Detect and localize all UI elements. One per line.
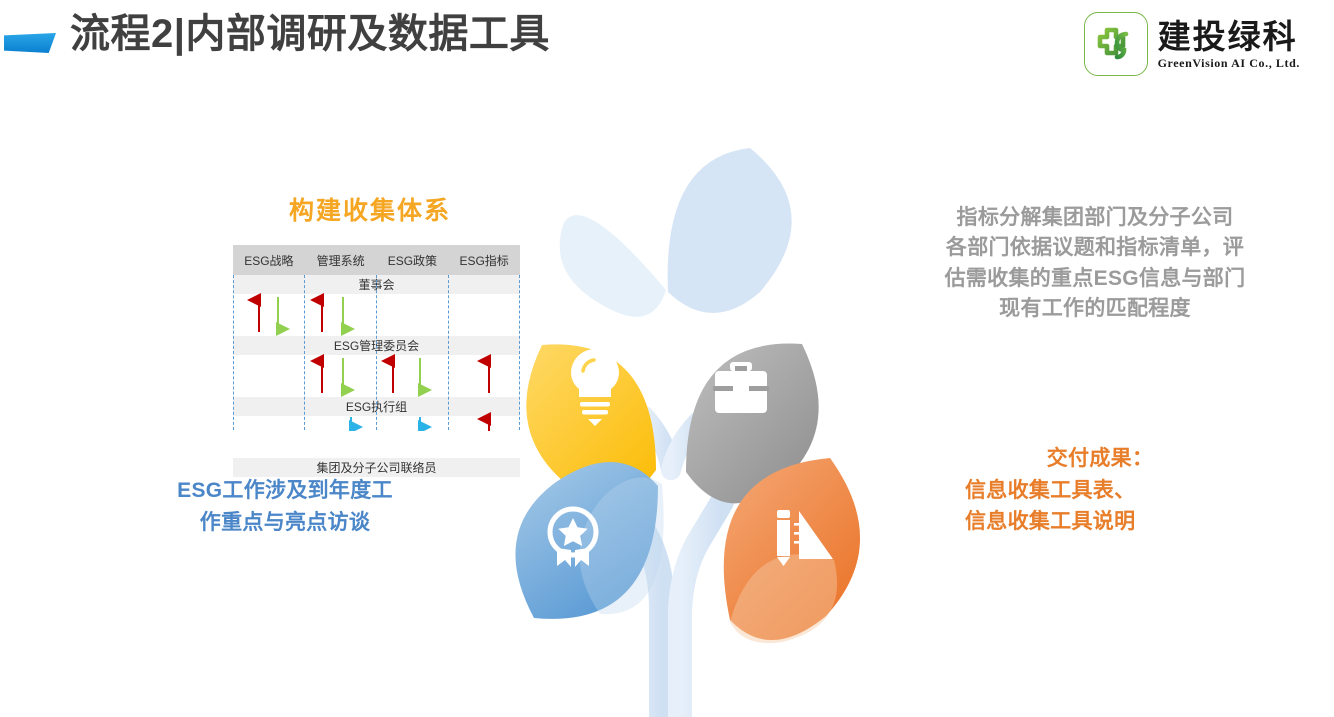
level-label: ESG管理委员会 [233, 336, 520, 355]
note-line: 信息收集工具说明 [955, 506, 1245, 538]
level-label: ESG执行组 [233, 397, 520, 416]
table-row: ESG管理委员会 [233, 336, 520, 355]
note-line: 估需收集的重点ESG信息与部门 [880, 264, 1310, 294]
arrow-row-2 [233, 355, 520, 397]
table-row [233, 294, 520, 336]
level-label: 董事会 [233, 275, 520, 294]
header-accent-shape [4, 33, 56, 53]
note-line: 现有工作的匹配程度 [880, 294, 1310, 324]
logo-name-en: GreenVision AI Co., Ltd. [1158, 57, 1300, 69]
table-header-row: ESG战略 管理系统 ESG政策 ESG指标 [233, 245, 520, 275]
note-line: 作重点与亮点访谈 [135, 507, 435, 539]
table-row [233, 416, 520, 458]
table-row: 董事会 [233, 275, 520, 294]
leaf-icon-sprout-left [560, 215, 666, 317]
table-col-header: ESG指标 [448, 245, 520, 275]
note-line: 指标分解集团部门及分子公司 [880, 203, 1310, 233]
table-col-header: ESG政策 [377, 245, 449, 275]
note-orange-block: 交付成果： 信息收集工具表、 信息收集工具说明 [955, 443, 1245, 538]
table-col-header: ESG战略 [233, 245, 305, 275]
note-line: 各部门依据议题和指标清单，评 [880, 233, 1310, 263]
slide-canvas: 流程2|内部调研及数据工具 建投绿科 GreenVision AI Co., L… [0, 0, 1334, 717]
note-gray-block: 指标分解集团部门及分子公司 各部门依据议题和指标清单，评 估需收集的重点ESG信… [880, 203, 1310, 325]
table-row [233, 355, 520, 397]
note-blue-block: ESG工作涉及到年度工 作重点与亮点访谈 [135, 475, 435, 538]
logo-mark-icon [1084, 12, 1148, 76]
note-line: 交付成果： [955, 443, 1245, 475]
note-line: ESG工作涉及到年度工 [135, 475, 435, 507]
leaf-blue [515, 462, 663, 619]
governance-table: ESG战略 管理系统 ESG政策 ESG指标 董事会 ESG管理委员会 ESG执… [233, 245, 520, 477]
arrow-row-3 [233, 416, 520, 458]
table-row: ESG执行组 [233, 397, 520, 416]
arrow-row-1 [233, 294, 520, 336]
note-line: 信息收集工具表、 [955, 475, 1245, 507]
leaf-icon-sprout-right [668, 148, 792, 313]
page-title: 流程2|内部调研及数据工具 [70, 10, 550, 58]
company-logo: 建投绿科 GreenVision AI Co., Ltd. [1084, 12, 1300, 76]
logo-name-cn: 建投绿科 [1158, 20, 1300, 53]
table-col-header: 管理系统 [305, 245, 377, 275]
collect-system-heading: 构建收集体系 [289, 191, 451, 227]
